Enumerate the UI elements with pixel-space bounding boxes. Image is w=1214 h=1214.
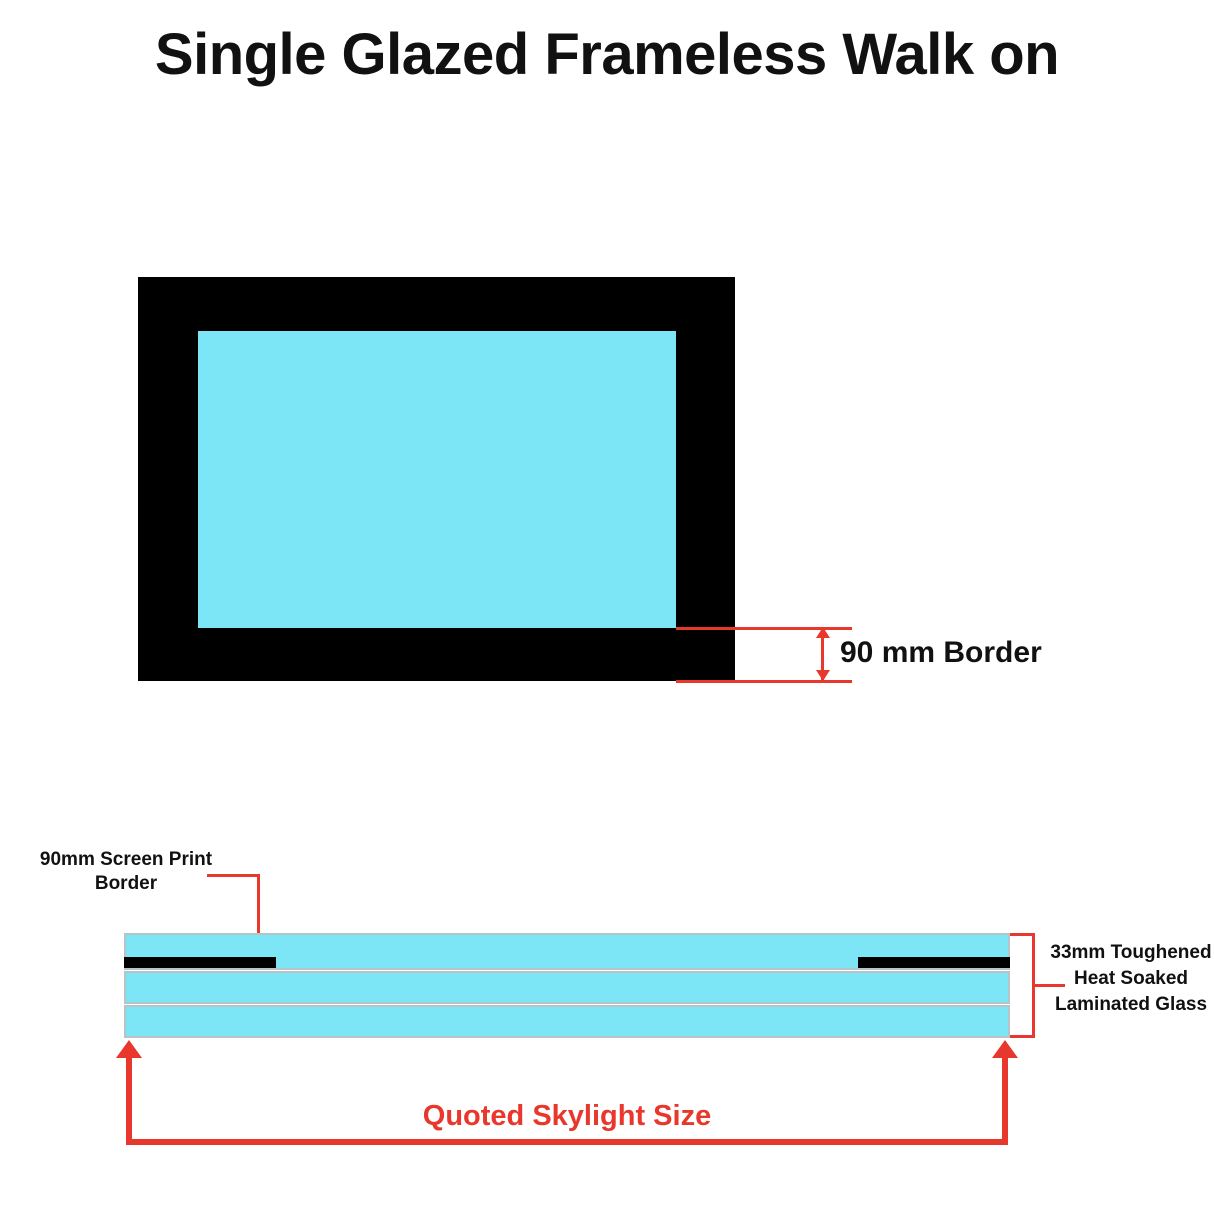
arrow-down-icon [816, 670, 830, 681]
bottom-glass-pane [124, 1005, 1010, 1038]
page-title: Single Glazed Frameless Walk on [0, 22, 1214, 89]
arrow-up-icon [816, 627, 830, 638]
diagram-canvas: Single Glazed Frameless Walk on 90 mm Bo… [0, 0, 1214, 1214]
screen-print-border-label: 90mm Screen Print Border [36, 848, 216, 897]
plan-view-glass-area [198, 331, 676, 628]
glass-specification-label: 33mm Toughened Heat Soaked Laminated Gla… [1048, 940, 1214, 1019]
quoted-skylight-size-label: Quoted Skylight Size [126, 1100, 1008, 1133]
quoted-size-arrow-left-icon [116, 1040, 142, 1058]
quoted-size-arrow-right-icon [992, 1040, 1018, 1058]
leader-line-horizontal [207, 874, 260, 877]
screen-print-border-left [124, 957, 276, 968]
middle-glass-pane [124, 971, 1010, 1004]
quoted-size-line-bottom [126, 1139, 1008, 1145]
border-dimension-label: 90 mm Border [840, 636, 1042, 670]
screen-print-border-right [858, 957, 1010, 968]
